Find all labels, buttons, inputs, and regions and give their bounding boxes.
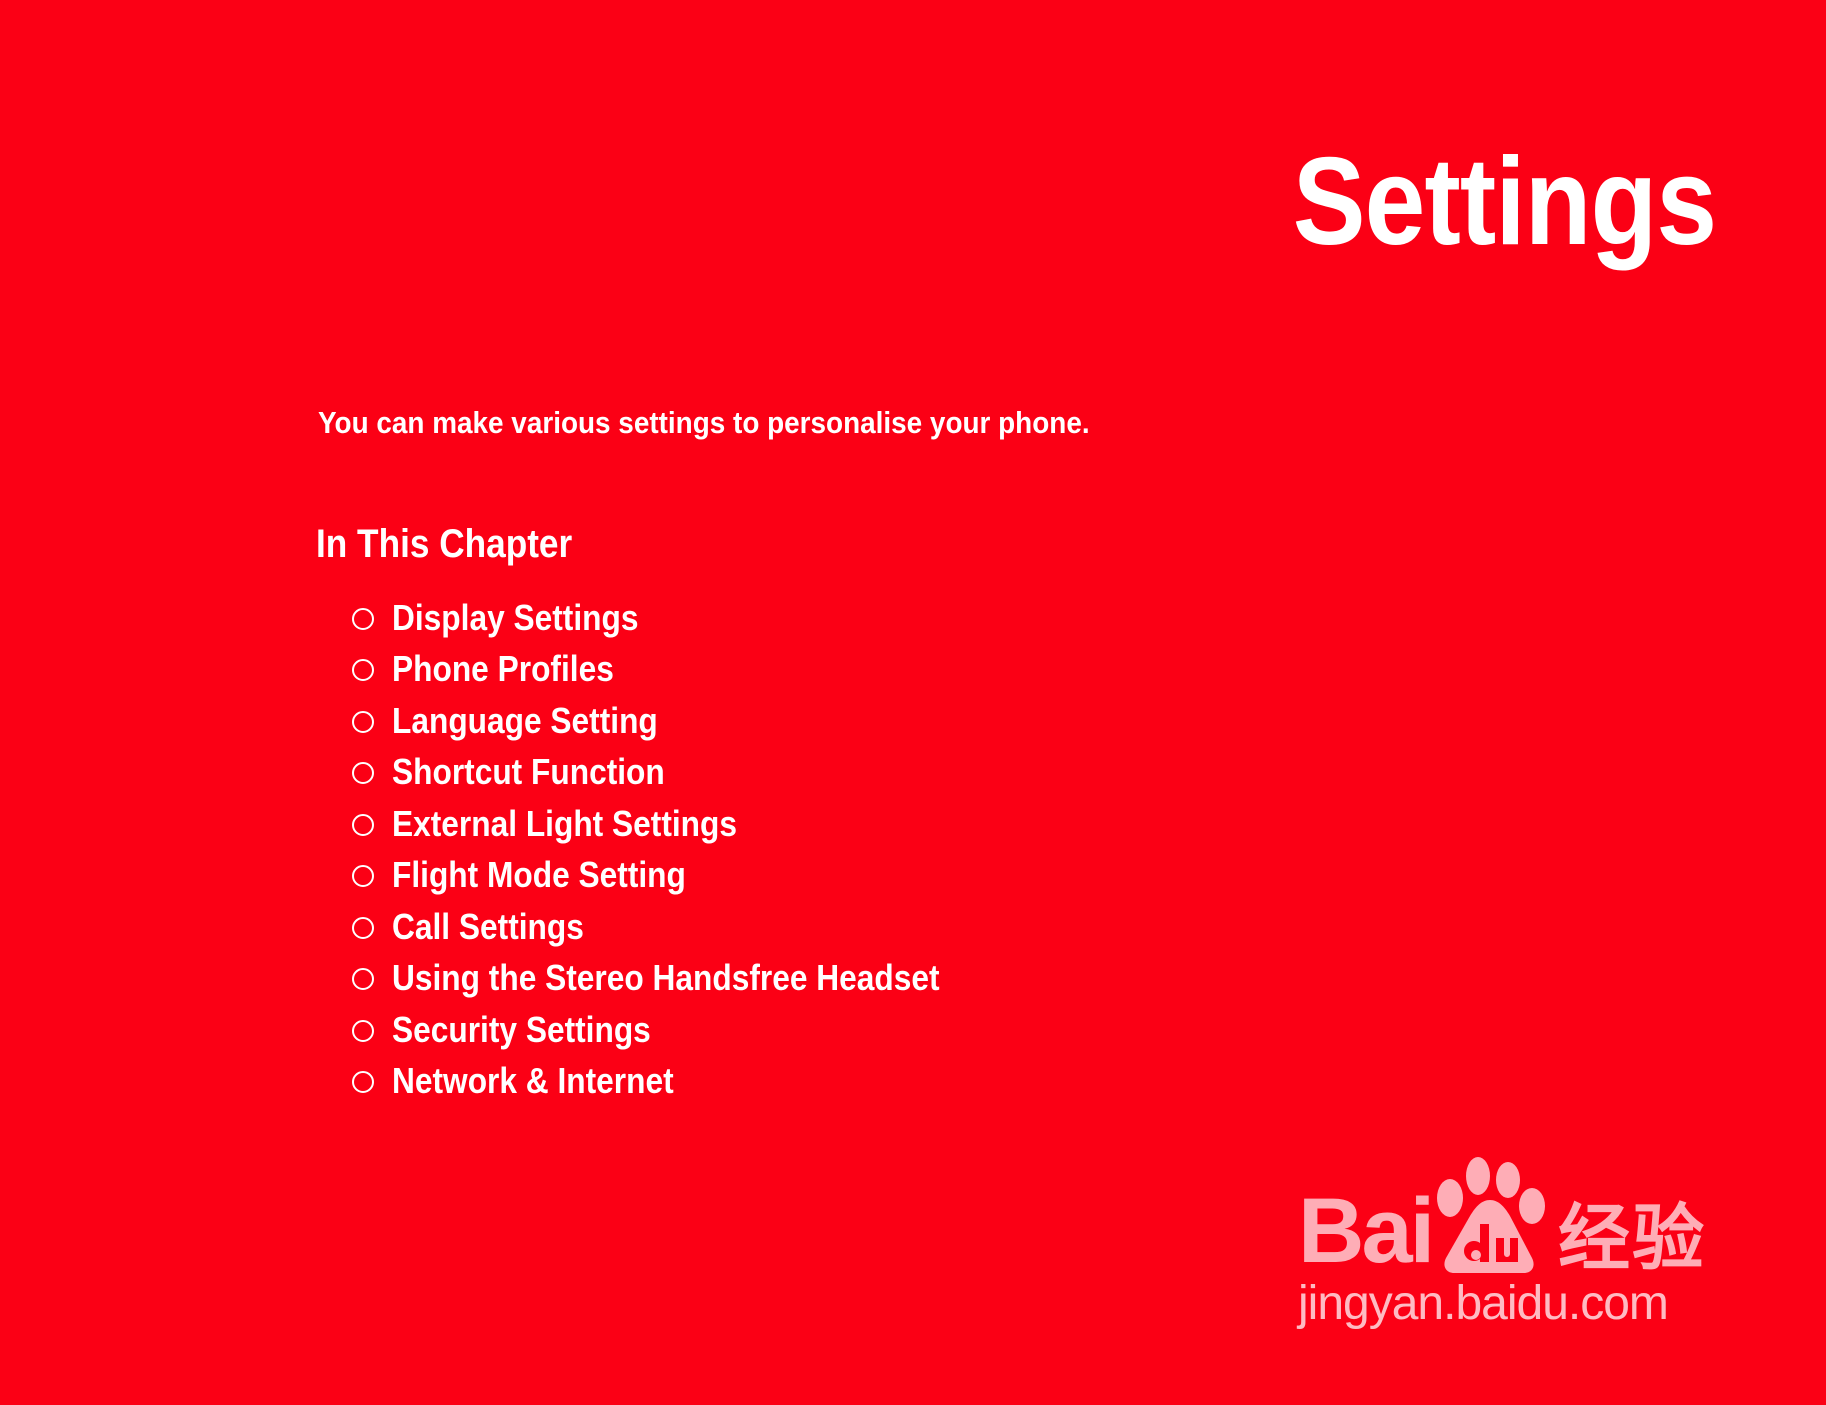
bullet-circle-icon <box>352 1071 374 1093</box>
bullet-circle-icon <box>352 659 374 681</box>
bullet-circle-icon <box>352 711 374 733</box>
manual-page: Settings You can make various settings t… <box>0 0 1826 1405</box>
chapter-list-item-label: Phone Profiles <box>392 651 614 687</box>
chapter-list-item-label: Network & Internet <box>392 1063 674 1099</box>
bullet-circle-icon <box>352 1020 374 1042</box>
watermark-logo-row: Bai 经验 <box>1298 1142 1728 1274</box>
chapter-list-item-label: Security Settings <box>392 1012 651 1048</box>
bullet-circle-icon <box>352 814 374 836</box>
section-heading-in-this-chapter: In This Chapter <box>316 522 572 566</box>
page-title: Settings <box>1293 140 1716 264</box>
baidu-wordmark-chinese: 经验 <box>1558 1202 1706 1274</box>
chapter-list-item-label: Shortcut Function <box>392 754 665 790</box>
bullet-circle-icon <box>352 968 374 990</box>
bullet-circle-icon <box>352 917 374 939</box>
baidu-watermark-url: jingyan.baidu.com <box>1298 1280 1728 1328</box>
chapter-list-item-label: Flight Mode Setting <box>392 857 686 893</box>
chapter-list-item[interactable]: Language Setting <box>352 695 1014 747</box>
chapter-list-item[interactable]: Phone Profiles <box>352 644 1014 696</box>
chapter-list-item-label: Language Setting <box>392 703 658 739</box>
chapter-list-item-label: External Light Settings <box>392 806 737 842</box>
chapter-list-item[interactable]: Security Settings <box>352 1004 1014 1056</box>
chapter-list-item[interactable]: Network & Internet <box>352 1056 1014 1108</box>
chapter-list-item[interactable]: Shortcut Function <box>352 747 1014 799</box>
chapter-list-item[interactable]: External Light Settings <box>352 798 1014 850</box>
chapter-list-item[interactable]: Using the Stereo Handsfree Headset <box>352 953 1014 1005</box>
bullet-circle-icon <box>352 608 374 630</box>
bullet-circle-icon <box>352 762 374 784</box>
baidu-wordmark-latin: Bai <box>1298 1189 1432 1274</box>
chapter-list-item-label: Display Settings <box>392 600 638 636</box>
intro-paragraph: You can make various settings to persona… <box>318 404 1090 441</box>
baidu-paw-icon <box>1428 1154 1546 1274</box>
chapter-list-item[interactable]: Flight Mode Setting <box>352 850 1014 902</box>
chapter-list-item-label: Call Settings <box>392 909 584 945</box>
chapter-list-item[interactable]: Call Settings <box>352 901 1014 953</box>
chapter-contents-list: Display SettingsPhone ProfilesLanguage S… <box>352 592 1014 1107</box>
chapter-list-item[interactable]: Display Settings <box>352 592 1014 644</box>
chapter-list-item-label: Using the Stereo Handsfree Headset <box>392 960 940 996</box>
baidu-jingyan-watermark: Bai 经验 jingyan.baidu.com <box>1298 1142 1728 1332</box>
bullet-circle-icon <box>352 865 374 887</box>
